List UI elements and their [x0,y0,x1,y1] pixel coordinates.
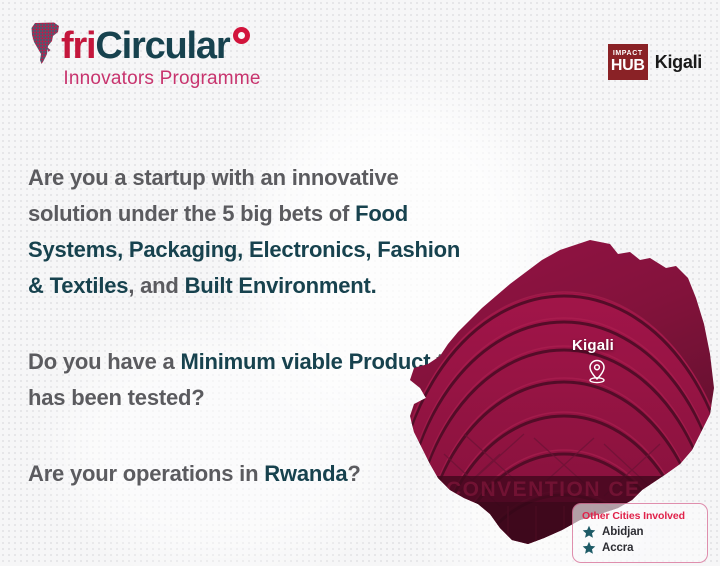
p3-seg-3: ? [347,461,360,486]
map-pin-icon [585,358,609,384]
p3-seg-1: Are your operations in [28,461,264,486]
other-cities-panel: Other Cities Involved Abidjan Accra [572,503,708,563]
kigali-label: Kigali [572,337,614,354]
p1-seg-1: Are you a startup with an innovative sol… [28,165,399,226]
city-name-abidjan: Abidjan [602,526,643,538]
list-item: Abidjan [582,525,699,539]
africircular-logo: fri Circular Innovators Programme [28,20,296,90]
p1-seg-4: Built Environment. [185,273,377,298]
p3-seg-2: Rwanda [264,461,347,486]
list-item: Accra [582,541,699,555]
impact-hub-logo: IMPACT HUB Kigali [608,44,702,80]
star-icon [582,541,596,555]
poster-canvas: fri Circular Innovators Programme IMPACT… [0,0,720,566]
africa-map-icon [28,21,64,65]
impact-hub-impact-text: IMPACT [613,50,643,57]
star-icon [582,525,596,539]
circle-dot-icon [233,27,250,44]
p2-seg-2: Minimum viable Product [180,349,430,374]
impact-hub-city: Kigali [655,52,702,73]
logo-subtitle: Innovators Programme [28,68,296,90]
p1-seg-3: , and [128,273,184,298]
logo-wordmark: fri Circular [28,20,296,66]
other-cities-title: Other Cities Involved [582,510,699,522]
impact-hub-badge: IMPACT HUB [608,44,648,80]
p2-seg-1: Do you have a [28,349,180,374]
logo-word-circular: Circular [95,26,229,66]
logo-word-afri: fri [61,26,95,66]
header: fri Circular Innovators Programme IMPACT… [0,0,720,110]
impact-hub-hub-text: HUB [611,58,645,74]
city-name-accra: Accra [602,542,633,554]
